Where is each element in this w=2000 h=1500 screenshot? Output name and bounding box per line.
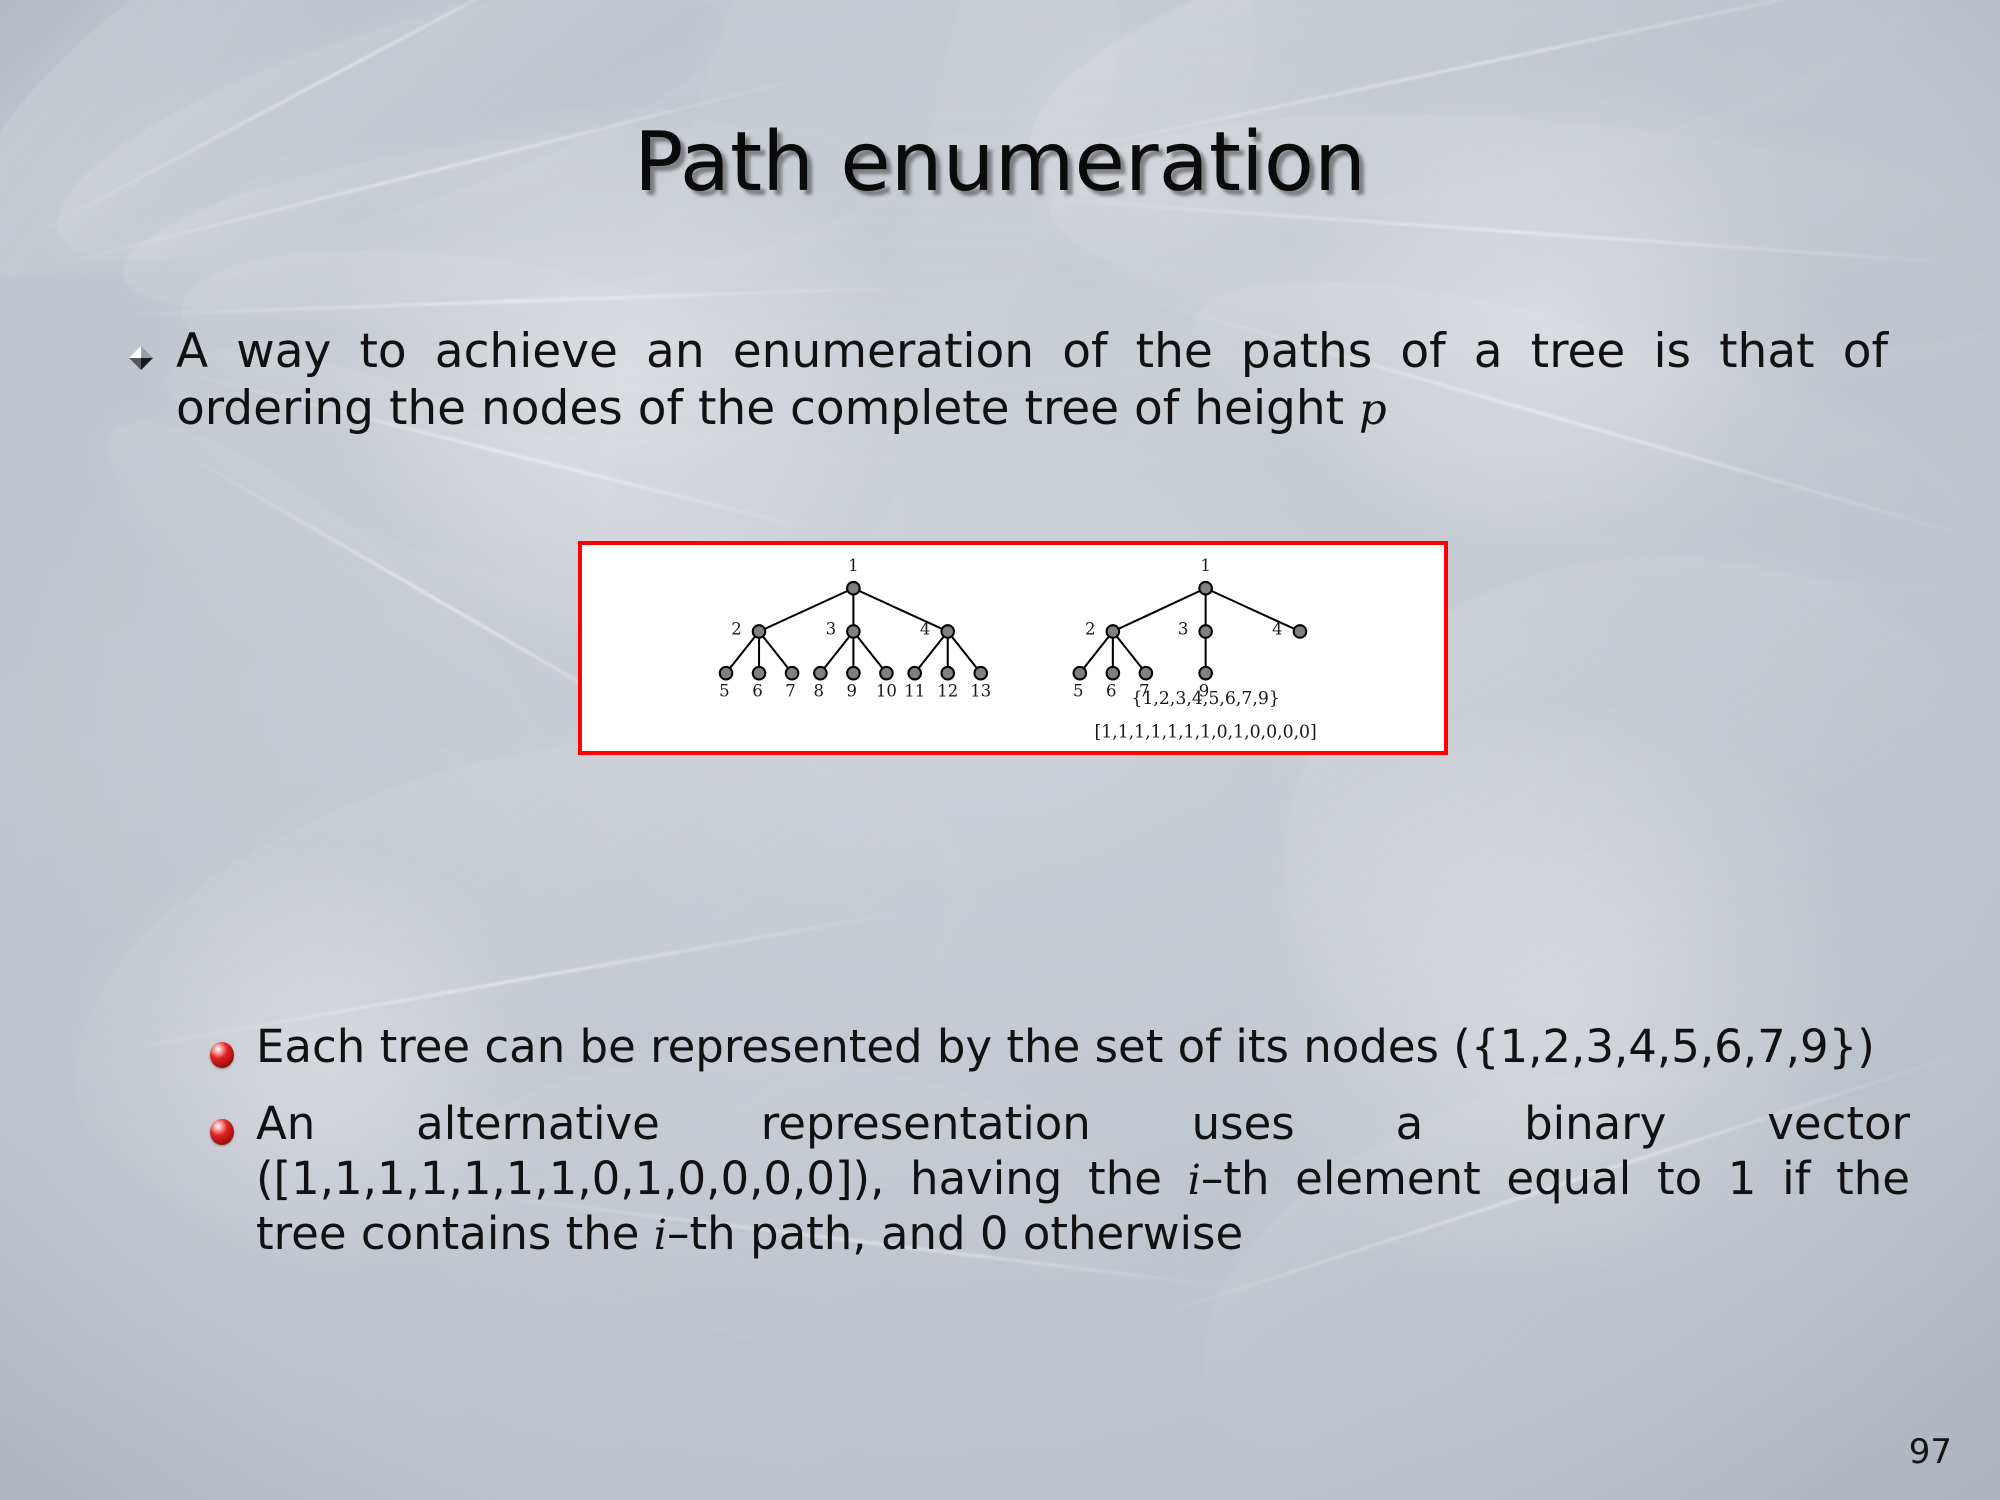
tree-node: [1199, 667, 1212, 680]
main-bullet-text: A way to achieve an enumeration of the p…: [176, 323, 1888, 438]
tree-node: [974, 667, 987, 680]
sub-bullet-list: Each tree can be represented by the set …: [210, 1020, 1910, 1284]
tree-node: [786, 667, 799, 680]
sub-bullet-item-2: An alternative representation uses a bin…: [210, 1097, 1910, 1262]
index-variable: i: [654, 1211, 667, 1259]
tree-node: [1199, 625, 1212, 638]
sub-bullet-item-1: Each tree can be represented by the set …: [210, 1020, 1910, 1075]
sub-bullet-2-line-2: ([1,1,1,1,1,1,1,0,1,0,0,0,0]), having th…: [256, 1152, 1481, 1205]
sub-bullet-2-text: An alternative representation uses a bin…: [256, 1097, 1910, 1262]
tree-node-label: 13: [970, 682, 991, 701]
tree-node: [941, 667, 954, 680]
red-sphere-bullet-icon: [210, 1119, 234, 1145]
tree-node-label: 11: [904, 682, 925, 701]
sub-bullet-2-line-1: An alternative representation uses a bin…: [256, 1097, 1910, 1150]
sub-bullet-1-line-2: ({1,2,3,4,5,6,7,9}): [1453, 1020, 1875, 1073]
sub-bullet-1-line-1: Each tree can be represented by the set …: [256, 1020, 1439, 1073]
slide: Path enumeration A way to achieve an enu…: [0, 0, 2000, 1500]
diamond-bullet-icon: [128, 345, 154, 371]
main-bullet-line-3-prefix: of height: [1134, 381, 1359, 436]
tree-node-label: 3: [826, 620, 837, 639]
sub-bullet-2-line-3b: –th path, and 0: [667, 1207, 1008, 1260]
tree-edge: [759, 588, 853, 631]
tree-node-label: 12: [937, 682, 958, 701]
main-bullet-line-3: of height p: [1134, 381, 1387, 436]
sub-bullet-2-line-4: otherwise: [1023, 1207, 1243, 1260]
tree-node: [1140, 667, 1153, 680]
tree-node-label: 3: [1178, 620, 1189, 639]
tree-node-label: 6: [1106, 682, 1117, 701]
tree-enumeration-figure: 1234567891011121312345679{1,2,3,4,5,6,7,…: [578, 541, 1448, 755]
tree-node-label: 6: [752, 682, 763, 701]
sub-bullet-2-line-2a: ([1,1,1,1,1,1,1,0,1,0,0,0,0]), having th…: [256, 1152, 1188, 1205]
sub-bullet-1-text: Each tree can be represented by the set …: [256, 1020, 1910, 1075]
index-variable: i: [1188, 1156, 1201, 1204]
tree-node-label: 10: [876, 682, 897, 701]
figure-caption-binary-vector: [1,1,1,1,1,1,1,0,1,0,0,0,0]: [1094, 723, 1316, 743]
main-bullet-line-1: A way to achieve an enumeration of the p…: [176, 324, 1503, 379]
tree-enumeration-svg: 1234567891011121312345679{1,2,3,4,5,6,7,…: [582, 545, 1444, 751]
tree-node: [1107, 625, 1120, 638]
tree-node: [753, 625, 766, 638]
page-number: 97: [1909, 1432, 1952, 1472]
tree-node: [1074, 667, 1087, 680]
tree-node-label: 8: [814, 682, 825, 701]
tree-edge: [759, 631, 792, 673]
tree-node-label: 1: [848, 556, 859, 575]
tree-node-label: 5: [1073, 682, 1084, 701]
tree-edge: [948, 631, 981, 673]
tree-node: [908, 667, 921, 680]
tree-node: [1107, 667, 1120, 680]
tree-node: [1294, 625, 1307, 638]
red-sphere-bullet-icon: [210, 1042, 234, 1068]
tree-node: [847, 625, 860, 638]
figure-caption-node-set: {1,2,3,4,5,6,7,9}: [1131, 689, 1279, 709]
tree-node-label: 1: [1200, 556, 1211, 575]
tree-node-label: 2: [1085, 620, 1096, 639]
tree-nodes: 12345678910111213: [719, 556, 991, 701]
tree-node: [847, 582, 860, 595]
tree-node: [753, 667, 766, 680]
tree-node-label: 5: [719, 682, 730, 701]
tree-node-label: 7: [785, 682, 796, 701]
tree-edge: [853, 588, 947, 631]
tree-edge: [1113, 631, 1146, 673]
tree-edge: [1113, 588, 1206, 631]
tree-edge: [853, 631, 886, 673]
tree-node-label: 4: [920, 620, 931, 639]
tree-node: [720, 667, 733, 680]
tree-node-label: 4: [1272, 620, 1283, 639]
tree-nodes: 12345679: [1073, 556, 1306, 701]
tree-node: [880, 667, 893, 680]
tree-node-label: 2: [731, 620, 742, 639]
tree-edge: [1206, 588, 1300, 631]
tree-node: [814, 667, 827, 680]
tree-node: [941, 625, 954, 638]
height-variable: p: [1359, 385, 1387, 435]
sub-bullet-2-line-2b: –th element: [1201, 1152, 1481, 1205]
tree-node: [847, 667, 860, 680]
tree-node-label: 9: [847, 682, 858, 701]
tree-node: [1199, 582, 1212, 595]
main-bullet-item: A way to achieve an enumeration of the p…: [128, 323, 1888, 438]
